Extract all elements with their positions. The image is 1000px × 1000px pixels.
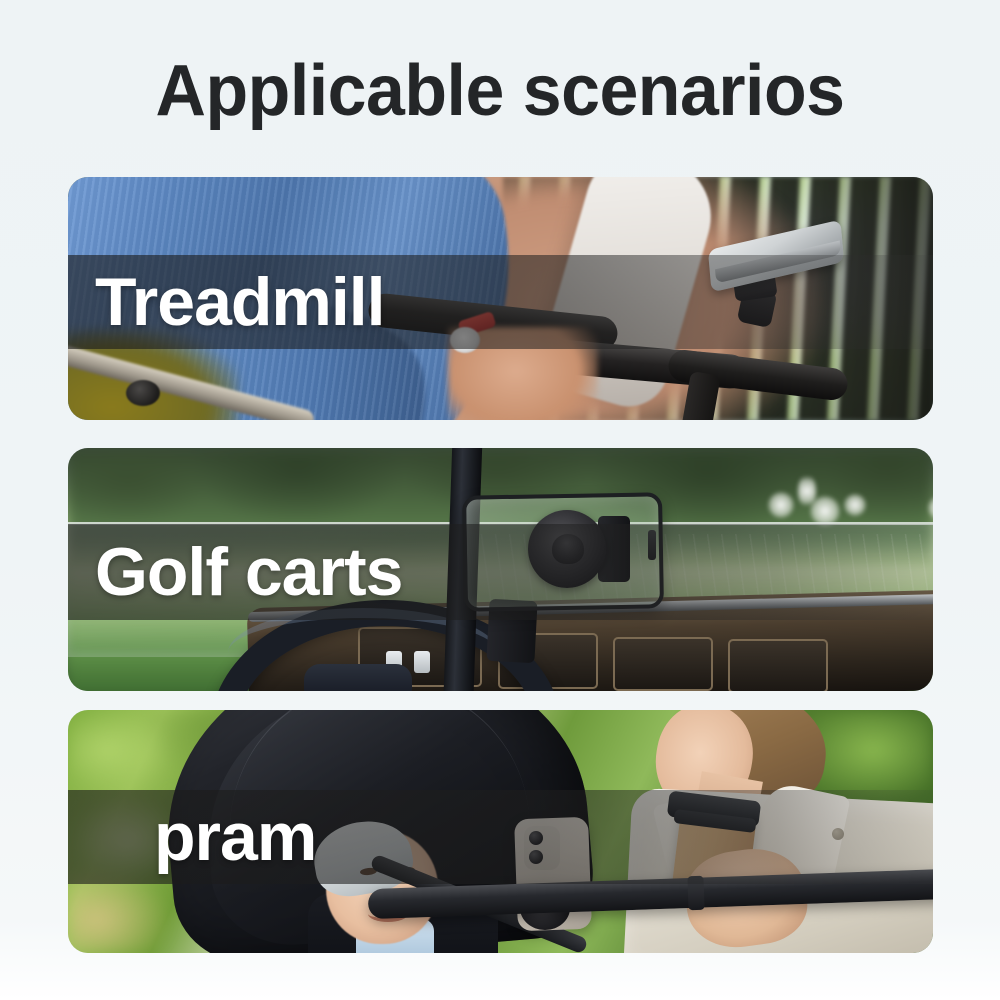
machine-knob	[126, 380, 160, 406]
scenario-label-band-golf-carts: Golf carts	[68, 524, 933, 620]
dash-panel-3	[613, 637, 713, 691]
steering-wheel-hub	[304, 664, 412, 691]
bokeh-light-1	[768, 492, 794, 518]
scenario-label-pram: pram	[154, 802, 316, 872]
scenario-card-treadmill[interactable]: Treadmill	[68, 177, 933, 420]
scenario-label-band-treadmill: Treadmill	[68, 255, 933, 349]
scenario-label-golf-carts: Golf carts	[95, 537, 402, 607]
scenario-label-treadmill: Treadmill	[95, 267, 385, 337]
dash-panel-4	[728, 639, 828, 691]
scenario-label-band-pram: pram	[68, 790, 933, 884]
applicable-scenarios-page: Applicable scenarios	[0, 0, 1000, 1000]
scenario-card-golf-carts[interactable]: Golf carts	[68, 448, 933, 691]
scenario-card-pram[interactable]: pram	[68, 710, 933, 953]
page-title: Applicable scenarios	[15, 52, 985, 130]
bokeh-light-3	[844, 494, 866, 516]
flagstick-blur	[798, 474, 816, 508]
